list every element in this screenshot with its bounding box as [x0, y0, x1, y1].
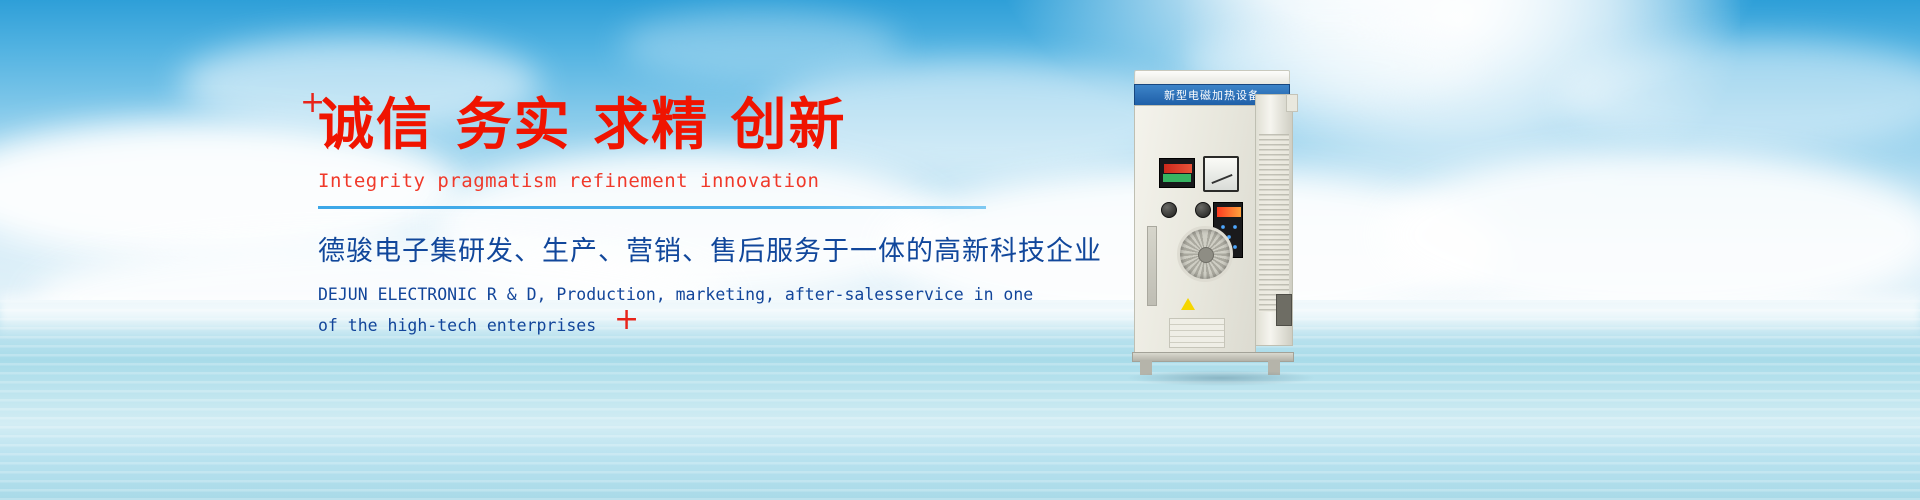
machine-side-box [1286, 94, 1298, 112]
machine-analog-gauge [1203, 156, 1239, 192]
machine-shadow [1126, 370, 1316, 386]
machine-knob [1161, 202, 1177, 218]
product-machine-image: 新型电磁加热设备 [1126, 70, 1316, 365]
machine-front-panel [1134, 105, 1256, 353]
machine-display-secondary [1163, 174, 1191, 182]
machine-vent-grille [1259, 134, 1289, 312]
divider [318, 206, 986, 209]
hero-banner: + + 诚信 务实 求精 创新 Integrity pragmatism ref… [0, 0, 1920, 500]
description-chinese: 德骏电子集研发、生产、营销、售后服务于一体的高新科技企业 [318, 229, 1018, 268]
machine-digital-display [1159, 158, 1195, 188]
machine-knob [1195, 202, 1211, 218]
machine-spec-plate [1169, 318, 1225, 348]
headline-chinese: 诚信 务实 求精 创新 [318, 96, 1018, 156]
slogan-english: Integrity pragmatism refinement innovati… [318, 170, 1018, 192]
banner-copy-block: 诚信 务实 求精 创新 Integrity pragmatism refinem… [318, 96, 1018, 342]
machine-side-strip [1147, 226, 1157, 306]
description-english: DEJUN ELECTRONIC R & D, Production, mark… [318, 280, 1018, 341]
description-english-line-1: DEJUN ELECTRONIC R & D, Production, mark… [318, 280, 1018, 311]
machine-cooling-fan [1177, 226, 1233, 282]
description-english-line-2: of the high-tech enterprises [318, 311, 1018, 342]
warning-triangle-icon [1181, 298, 1195, 310]
machine-label-text: 新型电磁加热设备 [1164, 87, 1260, 103]
machine-side-plate [1276, 294, 1292, 326]
